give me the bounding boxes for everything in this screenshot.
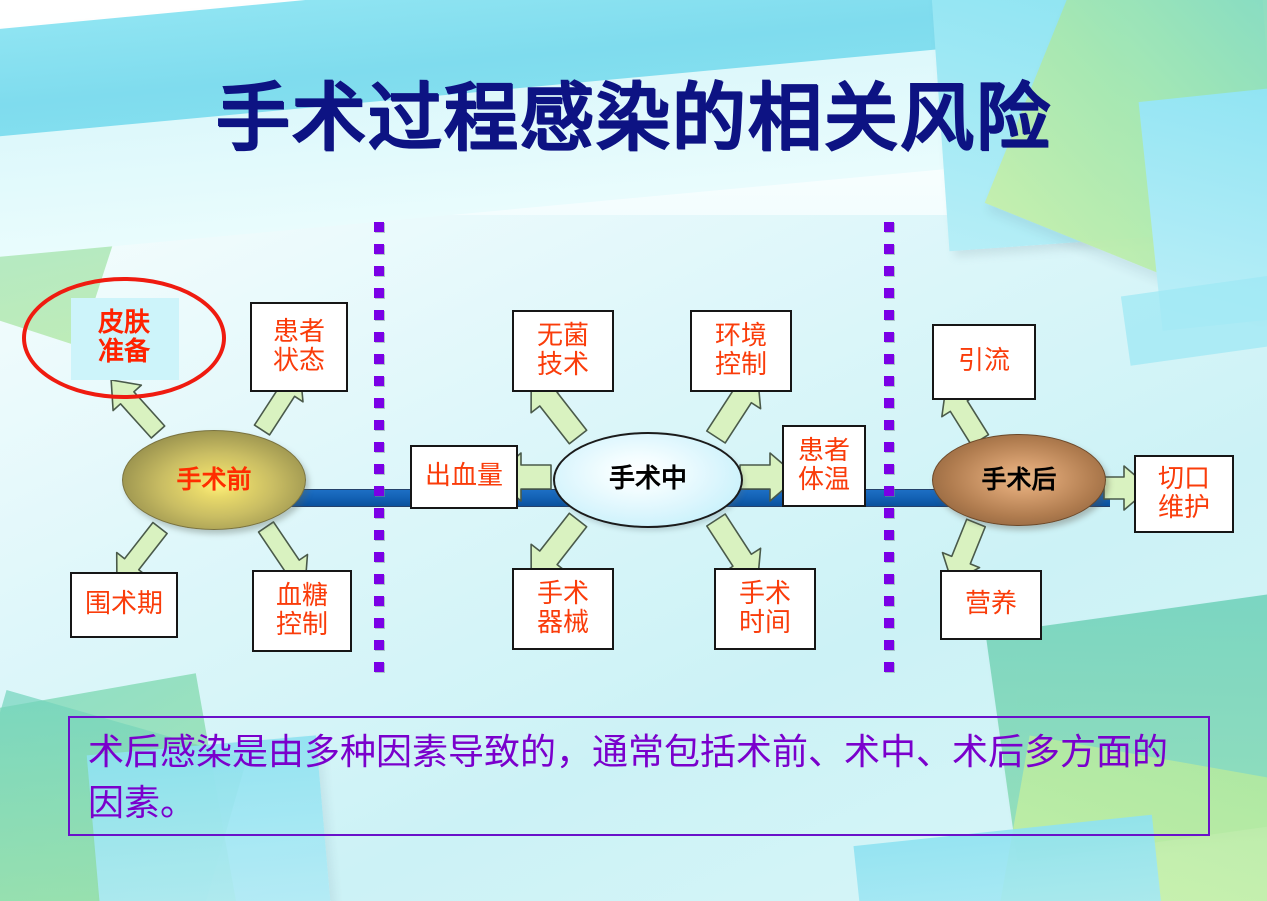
- factor-label-patient-temperature: 患者体温: [798, 437, 850, 495]
- factor-label-skin-prep: 皮肤准备: [98, 309, 150, 367]
- phase-label-post: 手术后: [981, 467, 1056, 493]
- factor-box-surgical-instruments[interactable]: 手术器械: [512, 568, 614, 650]
- factor-label-glucose-control: 血糖控制: [276, 582, 328, 640]
- factor-label-patient-status: 患者状态: [273, 318, 325, 376]
- factor-box-patient-temperature[interactable]: 患者体温: [782, 425, 866, 507]
- factor-box-nutrition[interactable]: 营养: [940, 570, 1042, 640]
- factor-label-perioperative: 围术期: [85, 590, 163, 619]
- factor-label-surgical-instruments: 手术器械: [537, 580, 589, 638]
- factor-label-aseptic-technique: 无菌技术: [537, 322, 589, 380]
- phase-label-pre: 手术前: [176, 467, 251, 493]
- slide-canvas: 手术过程感染的相关风险: [0, 0, 1267, 901]
- factor-box-perioperative[interactable]: 围术期: [70, 572, 178, 638]
- factor-skin-prep-highlight[interactable]: 皮肤准备: [22, 277, 226, 399]
- factor-label-blood-loss: 出血量: [425, 462, 503, 491]
- phase-ellipse-intra[interactable]: 手术中: [553, 432, 743, 528]
- factor-box-surgical-duration[interactable]: 手术时间: [714, 568, 816, 650]
- factor-box-drainage[interactable]: 引流: [932, 324, 1036, 400]
- phase-ellipse-pre[interactable]: 手术前: [122, 430, 306, 530]
- summary-caption: 术后感染是由多种因素导致的，通常包括术前、术中、术后多方面的因素。: [68, 716, 1210, 836]
- factor-box-glucose-control[interactable]: 血糖控制: [252, 570, 352, 652]
- divider-intra-post: [884, 222, 894, 684]
- slide-title: 手术过程感染的相关风险: [0, 58, 1267, 165]
- factor-label-surgical-duration: 手术时间: [739, 580, 791, 638]
- factor-box-environment-control[interactable]: 环境控制: [690, 310, 792, 392]
- factor-label-nutrition: 营养: [965, 590, 1017, 619]
- factor-label-drainage: 引流: [958, 347, 1010, 376]
- factor-box-wound-care[interactable]: 切口维护: [1134, 455, 1234, 533]
- factor-box-aseptic-technique[interactable]: 无菌技术: [512, 310, 614, 392]
- factor-box-blood-loss[interactable]: 出血量: [410, 445, 518, 509]
- divider-pre-intra: [374, 222, 384, 684]
- factor-box-patient-status[interactable]: 患者状态: [250, 302, 348, 392]
- factor-label-wound-care: 切口维护: [1158, 465, 1210, 523]
- phase-label-intra: 手术中: [609, 466, 687, 493]
- phase-ellipse-post[interactable]: 手术后: [932, 434, 1106, 526]
- factor-label-environment-control: 环境控制: [715, 322, 767, 380]
